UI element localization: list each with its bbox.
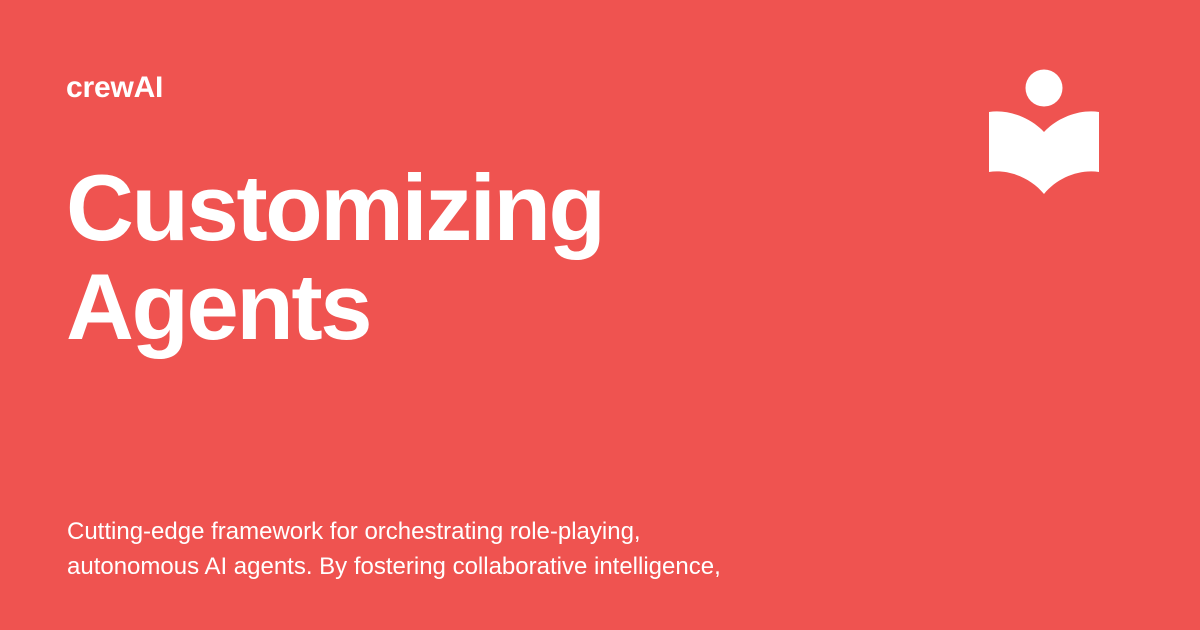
- description-line: autonomous AI agents. By fostering colla…: [67, 549, 967, 584]
- description-line: Cutting-edge framework for orchestrating…: [67, 514, 967, 549]
- og-card: crewAI Customizing Agents Cutting-edge f…: [0, 0, 1200, 630]
- brand-wordmark: crewAI: [66, 70, 163, 106]
- open-book-reader-logo-icon: [985, 62, 1105, 202]
- page-description: Cutting-edge framework for orchestrating…: [67, 514, 967, 584]
- page-title: Customizing Agents: [66, 158, 926, 356]
